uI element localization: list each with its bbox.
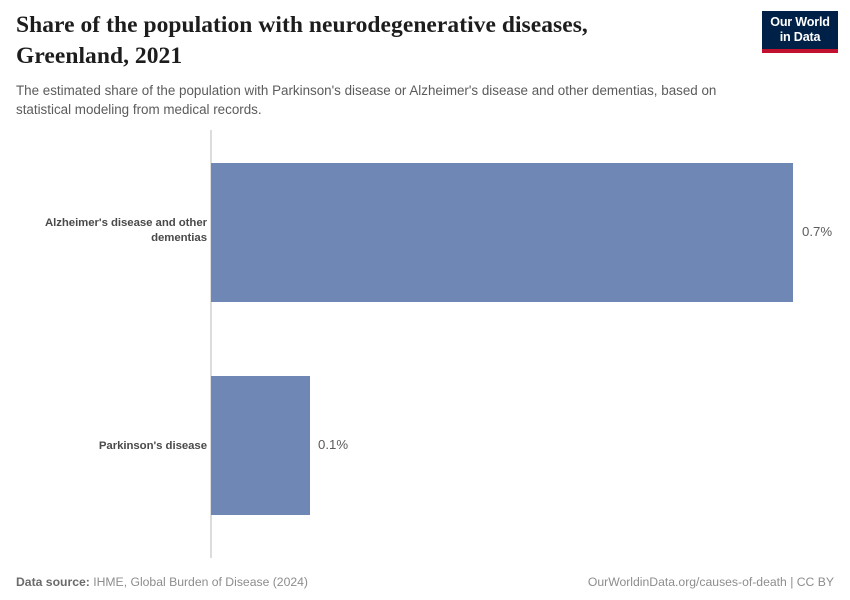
footer-data-source-label: Data source: [16,575,90,589]
bar-parkinsons[interactable] [211,376,310,515]
footer-data-source: Data source: IHME, Global Burden of Dise… [16,575,308,589]
chart-footer: Data source: IHME, Global Burden of Dise… [0,566,850,600]
footer-url[interactable]: OurWorldinData.org/causes-of-death | CC … [588,575,834,589]
bar-category-label-alzheimers-line2: dementias [151,232,207,244]
bar-category-label-parkinsons: Parkinson's disease [16,439,207,454]
plot-area: Alzheimer's disease and otherdementias 0… [0,0,850,600]
bar-category-label-alzheimers-line1: Alzheimer's disease and other [45,217,207,229]
bar-value-label-parkinsons: 0.1% [318,437,348,452]
bar-value-label-alzheimers: 0.7% [802,224,832,239]
owid-chart: Share of the population with neurodegene… [0,0,850,600]
bar-category-label-alzheimers: Alzheimer's disease and otherdementias [16,216,207,246]
footer-data-source-value: IHME, Global Burden of Disease (2024) [93,575,308,589]
bar-alzheimers[interactable] [211,163,793,302]
